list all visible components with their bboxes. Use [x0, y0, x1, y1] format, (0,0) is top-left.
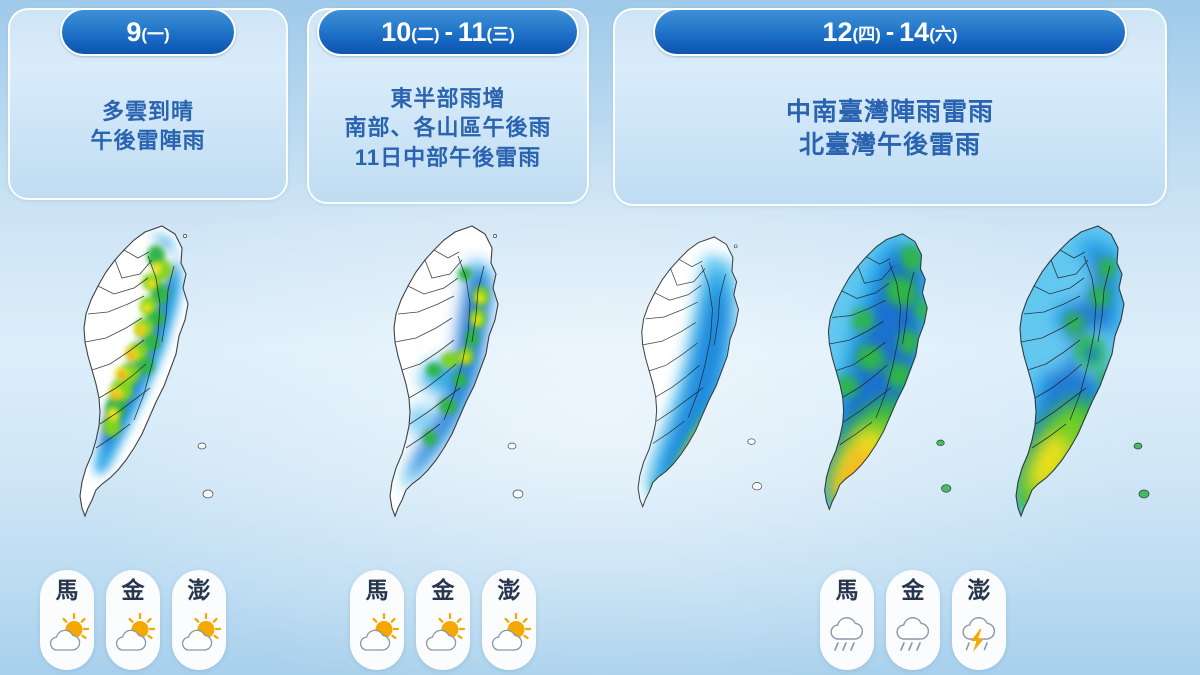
- thunderstorm-icon: [956, 610, 1002, 654]
- forecast-card-day-12-14[interactable]: 12(四)-14(六) 中南臺灣陣雨雷雨 北臺灣午後雷雨: [613, 8, 1167, 206]
- rainfall-map-row: [0, 208, 1200, 568]
- forecast-line: 多雲到晴: [102, 97, 194, 126]
- island-pill-matsu[interactable]: 馬: [350, 570, 404, 670]
- date-pill-1: 9(一): [60, 8, 236, 56]
- sun-behind-cloud-icon: [110, 610, 156, 654]
- date-number-end: 14: [899, 17, 929, 48]
- island-forecast-group-2: 馬 金: [350, 570, 536, 670]
- date-weekday: (四): [853, 20, 881, 45]
- taiwan-rain-map-3[interactable]: [612, 208, 798, 558]
- date-weekday: (二): [411, 20, 439, 45]
- taiwan-rain-map-4[interactable]: [798, 208, 988, 558]
- island-pill-kinmen[interactable]: 金: [416, 570, 470, 670]
- sun-behind-cloud-icon: [44, 610, 90, 654]
- date-number: 10: [381, 17, 411, 48]
- date-weekday-end: (六): [929, 20, 957, 45]
- forecast-text-1: 多雲到晴 午後雷陣雨: [10, 62, 286, 190]
- date-pill-2: 10(二)-11(三): [317, 8, 579, 56]
- date-number-end: 11: [458, 17, 487, 48]
- sun-behind-cloud-icon: [354, 610, 400, 654]
- forecast-card-day-10-11[interactable]: 10(二)-11(三) 東半部雨增 南部、各山區午後雨 11日中部午後雷雨: [307, 8, 589, 204]
- island-pill-kinmen[interactable]: 金: [106, 570, 160, 670]
- forecast-card-day-9[interactable]: 9(一) 多雲到晴 午後雷陣雨: [8, 8, 288, 200]
- date-number: 12: [822, 17, 852, 48]
- forecast-line: 午後雷陣雨: [90, 126, 205, 155]
- taiwan-rain-map-1[interactable]: [52, 208, 252, 558]
- island-forecast-group-3: 馬 金 澎: [820, 570, 1006, 670]
- forecast-line: 11日中部午後雷雨: [355, 143, 541, 172]
- forecast-line: 北臺灣午後雷雨: [799, 129, 981, 162]
- island-pill-matsu[interactable]: 馬: [40, 570, 94, 670]
- sun-behind-cloud-icon: [486, 610, 532, 654]
- forecast-line: 東半部雨增: [390, 84, 505, 113]
- sun-behind-cloud-icon: [176, 610, 222, 654]
- forecast-card-row: 9(一) 多雲到晴 午後雷陣雨 10(二)-11(三) 東半部雨增 南部、各山區…: [0, 0, 1200, 212]
- date-range-dash: -: [881, 18, 899, 47]
- forecast-line: 中南臺灣陣雨雷雨: [786, 96, 994, 129]
- taiwan-rain-map-2[interactable]: [362, 208, 562, 558]
- forecast-text-2: 東半部雨增 南部、各山區午後雨 11日中部午後雷雨: [309, 62, 587, 194]
- island-forecast-group-1: 馬 金: [40, 570, 226, 670]
- rain-cloud-icon: [824, 610, 870, 654]
- forecast-line: 南部、各山區午後雨: [344, 113, 551, 142]
- island-pill-penghu[interactable]: 澎: [172, 570, 226, 670]
- date-weekday-end: (三): [486, 20, 514, 45]
- date-range-dash: -: [440, 18, 458, 47]
- island-pill-penghu[interactable]: 澎: [952, 570, 1006, 670]
- island-pill-penghu[interactable]: 澎: [482, 570, 536, 670]
- date-number: 9: [126, 17, 141, 48]
- forecast-text-3: 中南臺灣陣雨雷雨 北臺灣午後雷雨: [615, 62, 1165, 196]
- date-pill-3: 12(四)-14(六): [653, 8, 1127, 56]
- island-pill-matsu[interactable]: 馬: [820, 570, 874, 670]
- sun-behind-cloud-icon: [420, 610, 466, 654]
- island-pill-kinmen[interactable]: 金: [886, 570, 940, 670]
- taiwan-rain-map-5[interactable]: [988, 208, 1188, 558]
- date-weekday: (一): [141, 20, 169, 45]
- rain-cloud-icon: [890, 610, 936, 654]
